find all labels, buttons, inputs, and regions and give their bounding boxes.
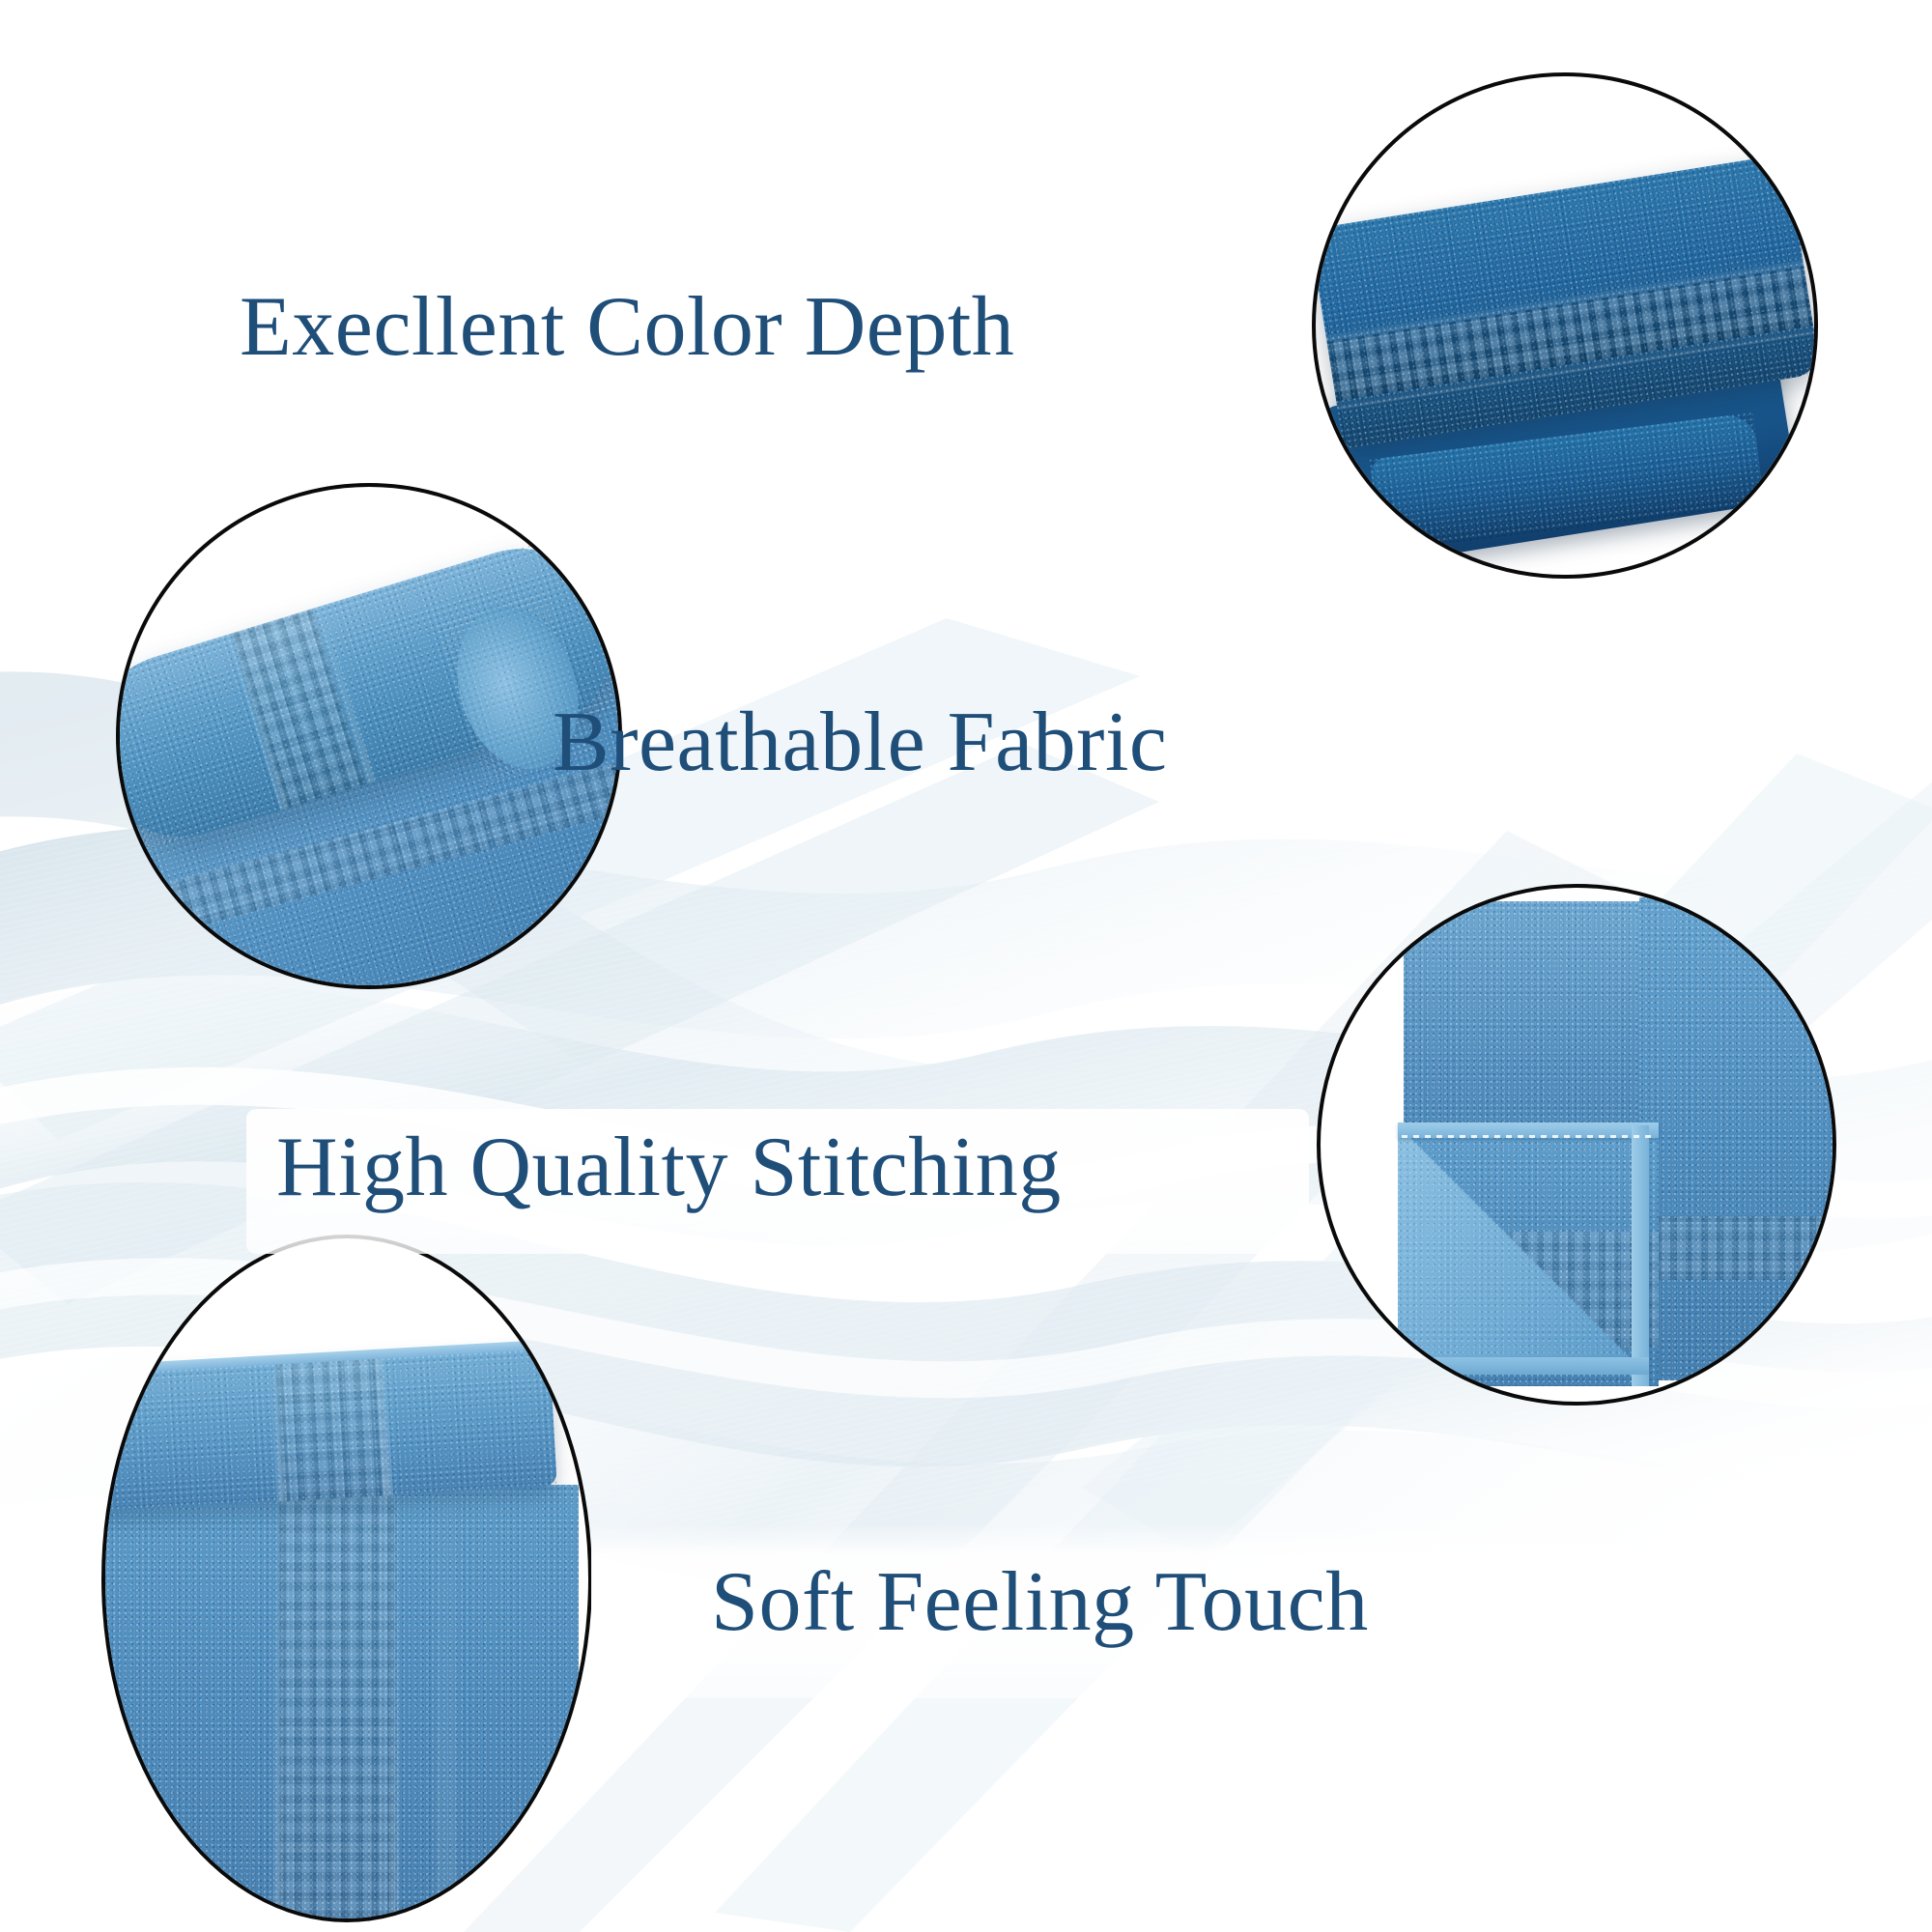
satin-stripe xyxy=(389,1485,399,1918)
towel-body xyxy=(105,1485,579,1918)
dobby-border-band xyxy=(1639,1216,1833,1280)
heading-soft-touch: Soft Feeling Touch xyxy=(711,1553,1369,1651)
folded-towel-hem-image xyxy=(1321,888,1833,1402)
stitch-line xyxy=(1402,1135,1651,1138)
photo-circle-stitching xyxy=(1317,884,1836,1406)
rolled-light-blue-towel-image xyxy=(120,487,618,985)
photo-circle-color-depth xyxy=(1312,72,1818,579)
heading-stitching: High Quality Stitching xyxy=(276,1119,1062,1216)
folded-dark-blue-towel-image xyxy=(1316,76,1814,575)
heading-breathable: Breathable Fabric xyxy=(553,694,1167,791)
dobby-border-band xyxy=(279,1485,395,1918)
hem-stitch-right xyxy=(1632,1125,1649,1386)
photo-circle-breathable xyxy=(116,483,622,989)
hem-stitch-bottom xyxy=(1398,1357,1649,1375)
photo-circle-soft-touch xyxy=(101,1235,592,1922)
heading-color-depth: Execllent Color Depth xyxy=(240,278,1014,376)
dobby-border-band xyxy=(275,1352,389,1501)
product-feature-infographic: Execllent Color Depth Breathable Fabric … xyxy=(0,0,1932,1932)
terry-texture xyxy=(1639,897,1833,1380)
towel-folded-edge-image xyxy=(105,1238,588,1918)
towel-right-panel xyxy=(1639,897,1833,1380)
satin-stripe xyxy=(273,1485,283,1918)
satin-stripe xyxy=(436,1485,457,1918)
